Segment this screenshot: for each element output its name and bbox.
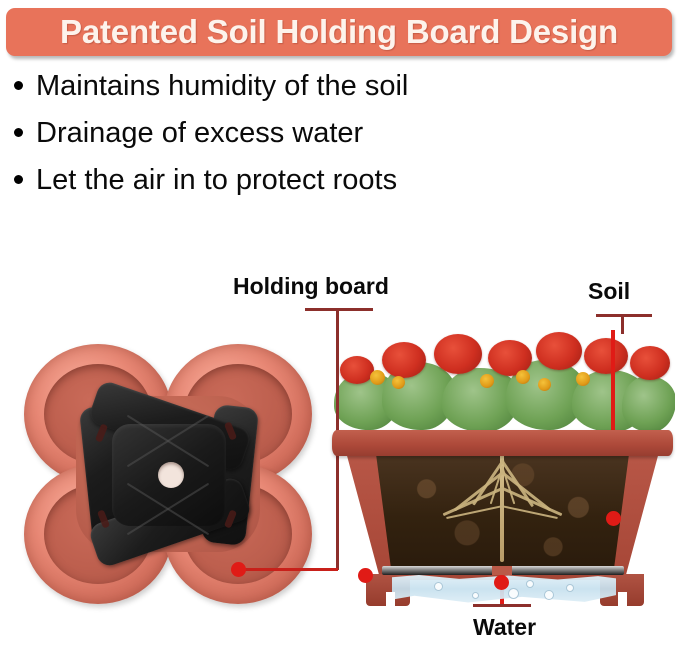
water-bubble <box>434 582 443 591</box>
leader-cap-holding-board <box>305 308 373 311</box>
bullet-text: Let the air in to protect roots <box>36 166 397 195</box>
flower-bloom <box>584 338 628 374</box>
board-center-hole <box>158 462 184 488</box>
flower-bud <box>392 376 405 389</box>
pointer-dot-water <box>494 575 509 590</box>
flower-bud <box>370 370 385 385</box>
list-item: Drainage of excess water <box>14 119 614 166</box>
leader-stem-soil <box>621 314 624 334</box>
header-banner: Patented Soil Holding Board Design <box>6 8 672 56</box>
callout-label-holding-board: Holding board <box>233 273 389 300</box>
plant-foliage <box>330 326 675 438</box>
bullet-text: Maintains humidity of the soil <box>36 72 408 101</box>
leader-cap-soil <box>596 314 652 317</box>
list-item: Let the air in to protect roots <box>14 166 614 213</box>
soil-layer <box>376 454 629 570</box>
water-bubble <box>472 592 479 599</box>
dot-bullet-icon <box>14 81 23 90</box>
leader-cap-water <box>473 604 531 607</box>
leaf-cluster <box>622 376 675 432</box>
leader-horizontal-holding-board <box>238 568 338 571</box>
pointer-dot-holding-board <box>231 562 246 577</box>
planter-rim <box>332 430 673 456</box>
water-bubble <box>544 590 554 600</box>
dot-bullet-icon <box>14 175 23 184</box>
list-item: Maintains humidity of the soil <box>14 72 614 119</box>
flower-bud <box>576 372 590 386</box>
holding-board-center-gap <box>492 566 512 575</box>
dot-bullet-icon <box>14 128 23 137</box>
callout-label-soil: Soil <box>588 278 630 305</box>
flower-bloom <box>536 332 582 370</box>
water-bubble <box>526 580 534 588</box>
flower-bud <box>538 378 551 391</box>
water-bubble <box>566 584 574 592</box>
flower-bud <box>516 370 530 384</box>
flower-bud <box>480 374 494 388</box>
pointer-dot-soil <box>606 511 621 526</box>
holding-board-part <box>72 388 264 560</box>
product-diagram: Holding board Soil Water <box>0 230 679 652</box>
flower-bloom <box>434 334 482 374</box>
water-bubble <box>508 588 519 599</box>
flower-bloom <box>630 346 670 380</box>
callout-label-water: Water <box>473 614 536 641</box>
page-title: Patented Soil Holding Board Design <box>60 13 618 51</box>
feature-bullet-list: Maintains humidity of the soil Drainage … <box>14 72 614 213</box>
flower-bloom <box>340 356 374 384</box>
planter-foot-notch <box>386 592 395 608</box>
flower-bloom <box>382 342 426 378</box>
pointer-dot-holding-board-plate <box>358 568 373 583</box>
planter-foot-notch <box>618 592 627 608</box>
bullet-text: Drainage of excess water <box>36 119 363 148</box>
